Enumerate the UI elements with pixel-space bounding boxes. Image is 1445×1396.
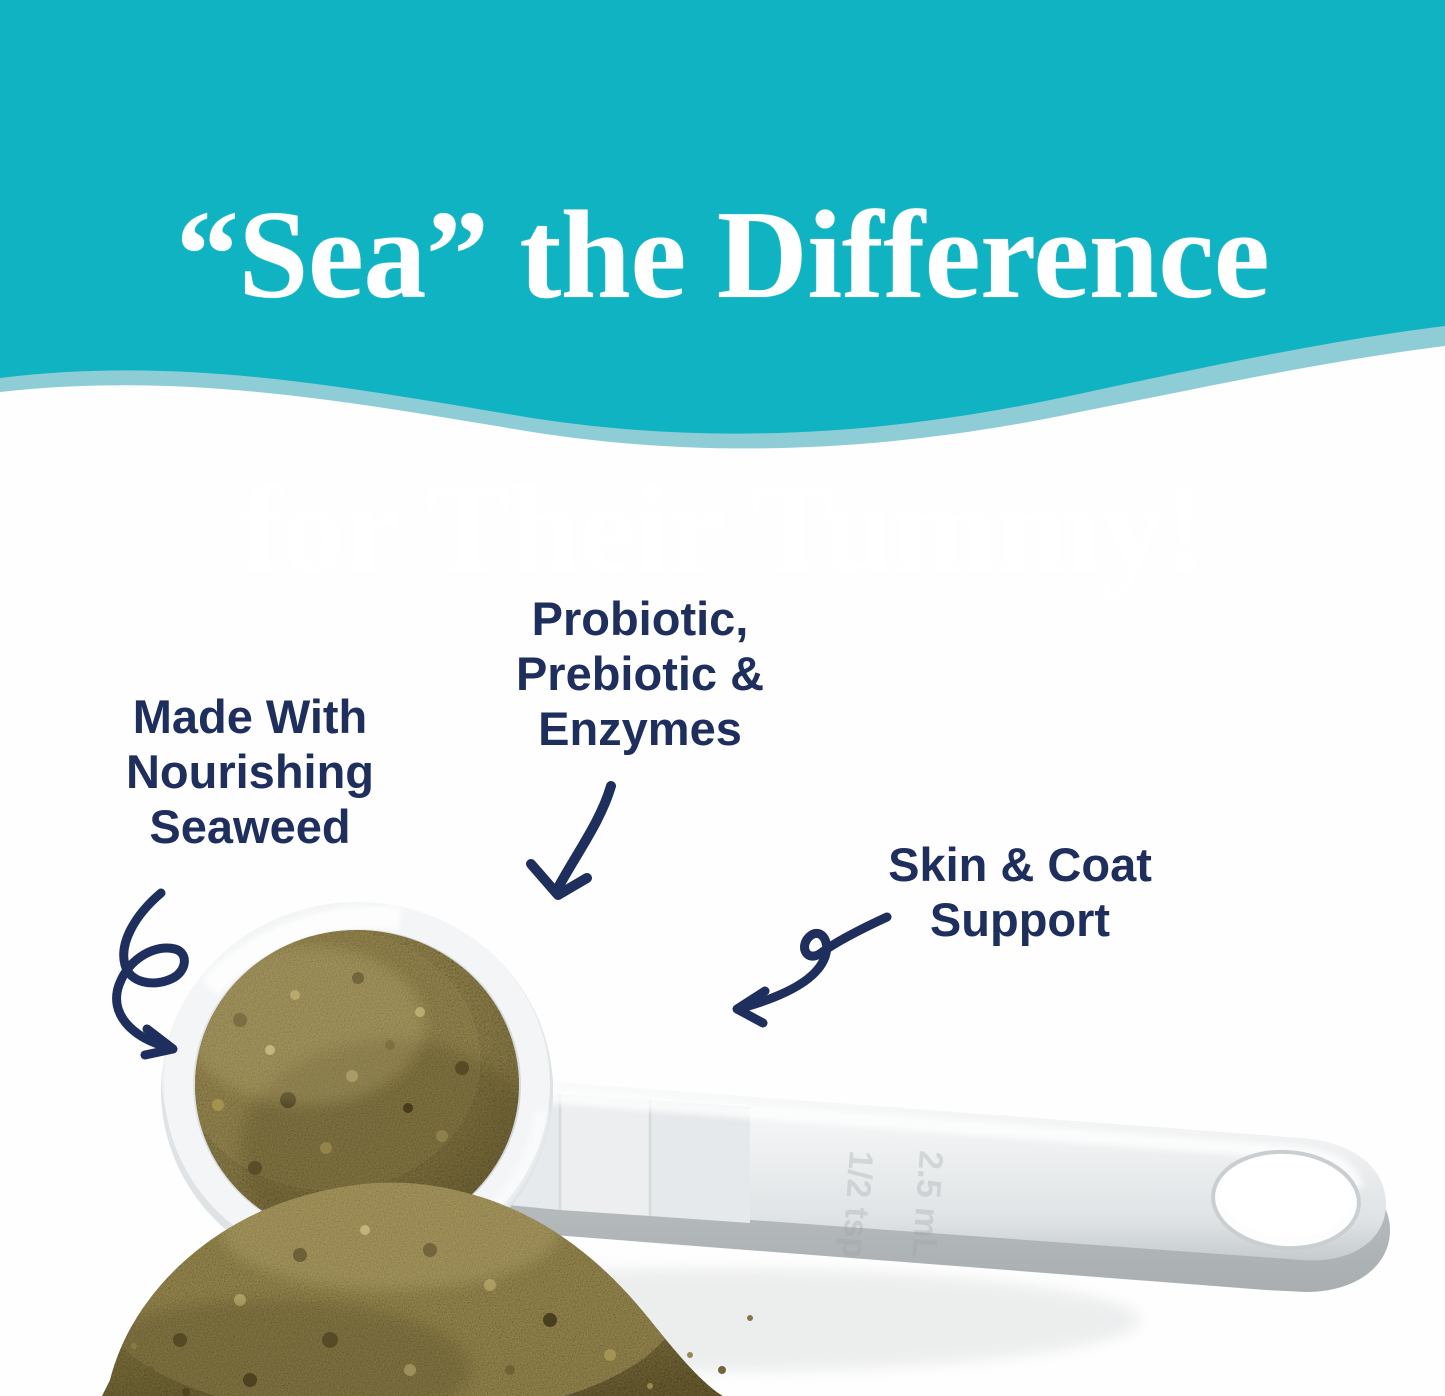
callout-probiotic-prebiotic-enzymes: Probiotic, Prebiotic & Enzymes: [470, 592, 810, 757]
svg-text:1/2 tsp: 1/2 tsp: [835, 1149, 880, 1259]
header-banner: “Sea” the Difference for Their Tummy!: [0, 0, 1445, 470]
curved-arrow-down-icon: [515, 768, 635, 913]
curly-loop-arrow-down-right-icon: [95, 885, 245, 1060]
headline-line-2: for Their Tummy!: [0, 459, 1445, 600]
headline-line-1: “Sea” the Difference: [0, 185, 1445, 326]
loop-arrow-left-icon: [715, 895, 900, 1030]
spoon-handle: 1/2 tsp 2.5 mL: [456, 1076, 1390, 1292]
callout-made-with-nourishing-seaweed: Made With Nourishing Seaweed: [60, 690, 440, 855]
product-marketing-poster: “Sea” the Difference for Their Tummy!: [0, 0, 1445, 1396]
svg-text:2.5 mL: 2.5 mL: [905, 1149, 950, 1259]
